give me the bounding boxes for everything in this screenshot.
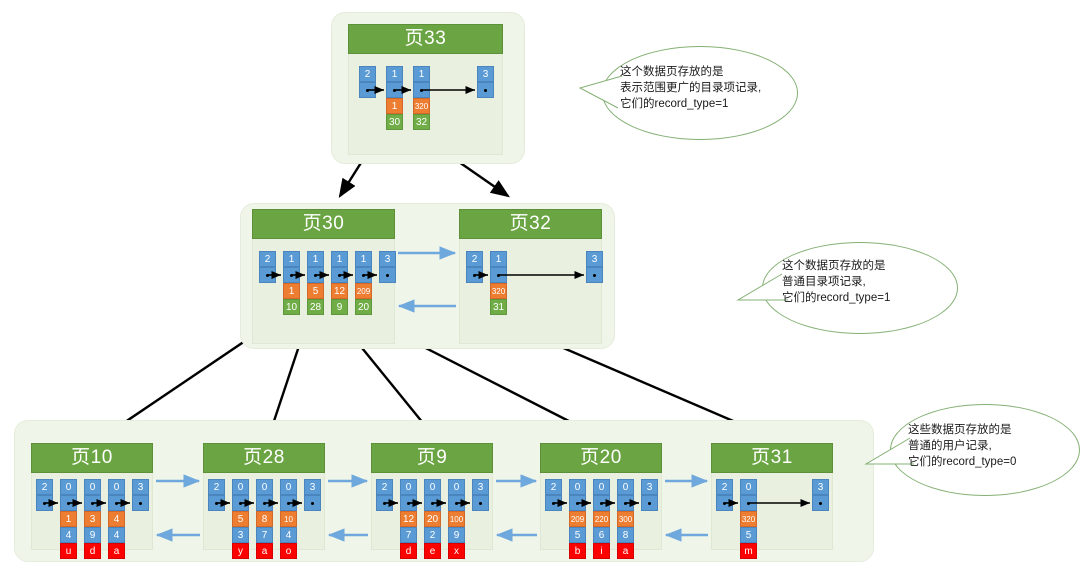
- key-cell: 4: [108, 511, 125, 527]
- supremum-label: 3: [304, 479, 321, 495]
- key-cell: 20: [424, 511, 441, 527]
- infimum-label: 2: [716, 479, 733, 495]
- page-no-cell: 9: [331, 299, 348, 315]
- callout-line: 表示范围更广的目录项记录,: [620, 80, 761, 96]
- directory-record[interactable]: 1 5 28: [307, 251, 324, 315]
- pointer-dot: [497, 274, 500, 277]
- supremum-label: 3: [472, 479, 489, 495]
- col3-cell: x: [448, 543, 465, 559]
- col3-cell: b: [569, 543, 586, 559]
- page-no-cell: 28: [307, 299, 324, 315]
- pointer-dot: [648, 502, 651, 505]
- page-box-0[interactable]: 页33 2 1 1 30 1: [348, 24, 503, 155]
- record-infimum: 2: [545, 479, 562, 511]
- infimum-label: 2: [376, 479, 393, 495]
- callout-line: 它们的record_type=0: [908, 454, 1016, 470]
- next-record-pointer: [256, 495, 273, 511]
- next-record-pointer: [586, 267, 603, 283]
- page-box-1[interactable]: 页30 2 1 1 10 1 5: [252, 209, 395, 344]
- pointer-dot: [455, 502, 458, 505]
- record-infimum: 2: [466, 251, 483, 283]
- user-record[interactable]: 0 10 4 o: [280, 479, 297, 559]
- record-type-cell: 0: [232, 479, 249, 495]
- supremum-label: 3: [379, 251, 396, 267]
- record-type-cell: 1: [355, 251, 372, 267]
- key-cell: 100: [448, 511, 465, 527]
- page-box-3[interactable]: 页10 2 0 1 4 u 0 3: [31, 443, 153, 550]
- next-record-pointer: [424, 495, 441, 511]
- page-records-area: 2 0 320 5 m 3: [711, 473, 833, 550]
- next-record-pointer: [490, 267, 507, 283]
- pointer-dot: [287, 502, 290, 505]
- user-record[interactable]: 0 5 3 y: [232, 479, 249, 559]
- pointer-dot: [723, 502, 726, 505]
- user-record[interactable]: 0 3 9 d: [84, 479, 101, 559]
- next-record-pointer: [359, 82, 376, 98]
- user-record[interactable]: 0 209 5 b: [569, 479, 586, 559]
- page-title: 页9: [371, 443, 493, 473]
- record-supremum: 3: [379, 251, 396, 283]
- page-title: 页33: [348, 24, 503, 54]
- user-record[interactable]: 0 4 4 a: [108, 479, 125, 559]
- pointer-dot: [91, 502, 94, 505]
- key-cell: 8: [256, 511, 273, 527]
- callout-internal: 这个数据页存放的是 普通目录项记录, 它们的record_type=1: [738, 242, 958, 346]
- pointer-dot: [420, 89, 423, 92]
- infimum-label: 2: [545, 479, 562, 495]
- col3-cell: a: [108, 543, 125, 559]
- col2-cell: 4: [60, 527, 77, 543]
- callout-leaf: 这些数据页存放的是 普通的用户记录, 它们的record_type=0: [866, 404, 1080, 508]
- pointer-dot: [383, 502, 386, 505]
- next-record-pointer: [376, 495, 393, 511]
- record-supremum: 3: [586, 251, 603, 283]
- key-cell: 10: [280, 511, 297, 527]
- pointer-dot: [366, 89, 369, 92]
- next-record-pointer: [740, 495, 757, 511]
- pointer-dot: [239, 502, 242, 505]
- next-record-pointer: [36, 495, 53, 511]
- pointer-dot: [552, 502, 555, 505]
- col3-cell: d: [400, 543, 417, 559]
- next-record-pointer: [400, 495, 417, 511]
- record-infimum: 2: [36, 479, 53, 511]
- directory-record[interactable]: 1 12 9: [331, 251, 348, 315]
- page-records-area: 2 1 320 31 3: [459, 239, 602, 344]
- callout-root: 这个数据页存放的是 表示范围更广的目录项记录, 它们的record_type=1: [578, 46, 798, 150]
- pointer-dot: [311, 502, 314, 505]
- record-type-cell: 0: [569, 479, 586, 495]
- user-record[interactable]: 0 20 2 e: [424, 479, 441, 559]
- record-infimum: 2: [208, 479, 225, 511]
- callout-text: 这些数据页存放的是 普通的用户记录, 它们的record_type=0: [908, 422, 1016, 470]
- supremum-label: 3: [586, 251, 603, 267]
- next-record-pointer: [232, 495, 249, 511]
- record-type-cell: 1: [307, 251, 324, 267]
- callout-text: 这个数据页存放的是 普通目录项记录, 它们的record_type=1: [782, 258, 890, 306]
- page-title: 页32: [459, 209, 602, 239]
- next-record-pointer: [108, 495, 125, 511]
- next-record-pointer: [413, 82, 430, 98]
- callout-line: 它们的record_type=1: [782, 290, 890, 306]
- page-title: 页31: [711, 443, 833, 473]
- key-cell: 1: [386, 98, 403, 114]
- key-cell: 1: [283, 283, 300, 299]
- infimum-label: 2: [359, 66, 376, 82]
- next-record-pointer: [593, 495, 610, 511]
- key-cell: 5: [307, 283, 324, 299]
- page-records-area: 2 1 1 30 1 320 32: [348, 54, 503, 155]
- record-type-cell: 0: [424, 479, 441, 495]
- directory-record[interactable]: 1 1 30: [386, 66, 403, 130]
- record-type-cell: 0: [256, 479, 273, 495]
- col3-cell: a: [617, 543, 634, 559]
- pointer-dot: [266, 274, 269, 277]
- supremum-label: 3: [132, 479, 149, 495]
- page-no-cell: 20: [355, 299, 372, 315]
- pointer-dot: [407, 502, 410, 505]
- record-supremum: 3: [812, 479, 829, 511]
- record-type-cell: 1: [413, 66, 430, 82]
- next-record-pointer: [617, 495, 634, 511]
- user-record[interactable]: 0 300 8 a: [617, 479, 634, 559]
- page-box-2[interactable]: 页32 2 1 320 31 3: [459, 209, 602, 344]
- record-supremum: 3: [472, 479, 489, 511]
- pointer-dot: [819, 502, 822, 505]
- page-box-5[interactable]: 页9 2 0 12 7 d 0 2: [371, 443, 493, 550]
- col2-cell: 2: [424, 527, 441, 543]
- col2-cell: 9: [84, 527, 101, 543]
- record-infimum: 2: [376, 479, 393, 511]
- next-record-pointer: [466, 267, 483, 283]
- diagram-canvas: 页33 2 1 1 30 1: [0, 0, 1080, 579]
- page-title: 页28: [203, 443, 325, 473]
- key-cell: 300: [617, 511, 634, 527]
- next-record-pointer: [283, 267, 300, 283]
- pointer-dot: [600, 502, 603, 505]
- col3-cell: y: [232, 543, 249, 559]
- record-infimum: 2: [359, 66, 376, 98]
- infimum-label: 2: [208, 479, 225, 495]
- user-record[interactable]: 0 100 9 x: [448, 479, 465, 559]
- record-infimum: 2: [716, 479, 733, 511]
- pointer-dot: [215, 502, 218, 505]
- key-cell: 3: [84, 511, 101, 527]
- next-record-pointer: [304, 495, 321, 511]
- supremum-label: 3: [641, 479, 658, 495]
- pointer-dot: [473, 274, 476, 277]
- pointer-dot: [576, 502, 579, 505]
- next-record-pointer: [259, 267, 276, 283]
- col2-cell: 5: [740, 527, 757, 543]
- record-type-cell: 0: [400, 479, 417, 495]
- user-record[interactable]: 0 1 4 u: [60, 479, 77, 559]
- page-no-cell: 32: [413, 114, 430, 130]
- pointer-dot: [115, 502, 118, 505]
- pointer-dot: [747, 502, 750, 505]
- col2-cell: 6: [593, 527, 610, 543]
- record-type-cell: 1: [283, 251, 300, 267]
- next-record-pointer: [60, 495, 77, 511]
- record-supremum: 3: [132, 479, 149, 511]
- page-box-4[interactable]: 页28 2 0 5 3 y 0 8: [203, 443, 325, 550]
- page-box-7[interactable]: 页31 2 0 320 5 m 3: [711, 443, 833, 550]
- record-supremum: 3: [304, 479, 321, 511]
- page-no-cell: 30: [386, 114, 403, 130]
- page-records-area: 2 1 1 10 1 5 28: [252, 239, 395, 344]
- col2-cell: 4: [280, 527, 297, 543]
- pointer-dot: [593, 274, 596, 277]
- record-infimum: 2: [259, 251, 276, 283]
- next-record-pointer: [641, 495, 658, 511]
- next-record-pointer: [84, 495, 101, 511]
- page-no-cell: 31: [490, 299, 507, 315]
- supremum-label: 3: [477, 66, 494, 82]
- directory-record[interactable]: 1 1 10: [283, 251, 300, 315]
- record-supremum: 3: [477, 66, 494, 98]
- pointer-dot: [431, 502, 434, 505]
- record-type-cell: 0: [448, 479, 465, 495]
- user-record[interactable]: 0 8 7 a: [256, 479, 273, 559]
- col3-cell: m: [740, 543, 757, 559]
- infimum-label: 2: [466, 251, 483, 267]
- infimum-label: 2: [36, 479, 53, 495]
- col2-cell: 5: [569, 527, 586, 543]
- callout-line: 这些数据页存放的是: [908, 422, 1016, 438]
- col2-cell: 7: [256, 527, 273, 543]
- page-no-cell: 10: [283, 299, 300, 315]
- callout-line: 它们的record_type=1: [620, 96, 761, 112]
- next-record-pointer: [477, 82, 494, 98]
- pointer-dot: [67, 502, 70, 505]
- record-type-cell: 0: [280, 479, 297, 495]
- page-title: 页10: [31, 443, 153, 473]
- key-cell: 320: [490, 283, 507, 299]
- next-record-pointer: [331, 267, 348, 283]
- key-cell: 12: [400, 511, 417, 527]
- supremum-label: 3: [812, 479, 829, 495]
- page-records-area: 2 0 209 5 b 0 220 6 i: [540, 473, 662, 550]
- col2-cell: 9: [448, 527, 465, 543]
- key-cell: 320: [740, 511, 757, 527]
- col3-cell: d: [84, 543, 101, 559]
- user-record[interactable]: 0 320 5 m: [740, 479, 757, 559]
- pointer-dot: [43, 502, 46, 505]
- pointer-dot: [479, 502, 482, 505]
- pointer-dot: [139, 502, 142, 505]
- callout-line: 这个数据页存放的是: [620, 64, 761, 80]
- infimum-label: 2: [259, 251, 276, 267]
- record-type-cell: 1: [490, 251, 507, 267]
- callout-line: 这个数据页存放的是: [782, 258, 890, 274]
- pointer-dot: [624, 502, 627, 505]
- pointer-dot: [338, 274, 341, 277]
- directory-record[interactable]: 1 320 32: [413, 66, 430, 130]
- col3-cell: i: [593, 543, 610, 559]
- col3-cell: a: [256, 543, 273, 559]
- next-record-pointer: [569, 495, 586, 511]
- next-record-pointer: [812, 495, 829, 511]
- next-record-pointer: [355, 267, 372, 283]
- pointer-dot: [314, 274, 317, 277]
- col2-cell: 4: [108, 527, 125, 543]
- next-record-pointer: [280, 495, 297, 511]
- callout-line: 普通目录项记录,: [782, 274, 890, 290]
- directory-record[interactable]: 1 320 31: [490, 251, 507, 315]
- pointer-dot: [290, 274, 293, 277]
- record-type-cell: 1: [386, 66, 403, 82]
- next-record-pointer: [448, 495, 465, 511]
- record-type-cell: 0: [740, 479, 757, 495]
- next-record-pointer: [545, 495, 562, 511]
- key-cell: 1: [60, 511, 77, 527]
- next-record-pointer: [716, 495, 733, 511]
- pointer-dot: [484, 89, 487, 92]
- record-type-cell: 0: [108, 479, 125, 495]
- pointer-dot: [386, 274, 389, 277]
- col2-cell: 7: [400, 527, 417, 543]
- record-type-cell: 0: [617, 479, 634, 495]
- callout-line: 普通的用户记录,: [908, 438, 1016, 454]
- next-record-pointer: [379, 267, 396, 283]
- record-type-cell: 0: [593, 479, 610, 495]
- col2-cell: 3: [232, 527, 249, 543]
- page-records-area: 2 0 1 4 u 0 3 9 d: [31, 473, 153, 550]
- key-cell: 220: [593, 511, 610, 527]
- pointer-dot: [393, 89, 396, 92]
- next-record-pointer: [386, 82, 403, 98]
- next-record-pointer: [132, 495, 149, 511]
- col3-cell: o: [280, 543, 297, 559]
- pointer-dot: [362, 274, 365, 277]
- key-cell: 209: [569, 511, 586, 527]
- next-record-pointer: [307, 267, 324, 283]
- next-record-pointer: [208, 495, 225, 511]
- col3-cell: u: [60, 543, 77, 559]
- record-type-cell: 0: [84, 479, 101, 495]
- page-title: 页30: [252, 209, 395, 239]
- key-cell: 320: [413, 98, 430, 114]
- page-title: 页20: [540, 443, 662, 473]
- next-record-pointer: [472, 495, 489, 511]
- user-record[interactable]: 0 220 6 i: [593, 479, 610, 559]
- page-records-area: 2 0 12 7 d 0 20 2 e: [371, 473, 493, 550]
- col2-cell: 8: [617, 527, 634, 543]
- page-records-area: 2 0 5 3 y 0 8 7 a: [203, 473, 325, 550]
- page-box-6[interactable]: 页20 2 0 209 5 b 0: [540, 443, 662, 550]
- key-cell: 5: [232, 511, 249, 527]
- key-cell: 12: [331, 283, 348, 299]
- key-cell: 209: [355, 283, 372, 299]
- user-record[interactable]: 0 12 7 d: [400, 479, 417, 559]
- col3-cell: e: [424, 543, 441, 559]
- callout-text: 这个数据页存放的是 表示范围更广的目录项记录, 它们的record_type=1: [620, 64, 761, 112]
- record-type-cell: 1: [331, 251, 348, 267]
- pointer-dot: [263, 502, 266, 505]
- directory-record[interactable]: 1 209 20: [355, 251, 372, 315]
- record-supremum: 3: [641, 479, 658, 511]
- record-type-cell: 0: [60, 479, 77, 495]
